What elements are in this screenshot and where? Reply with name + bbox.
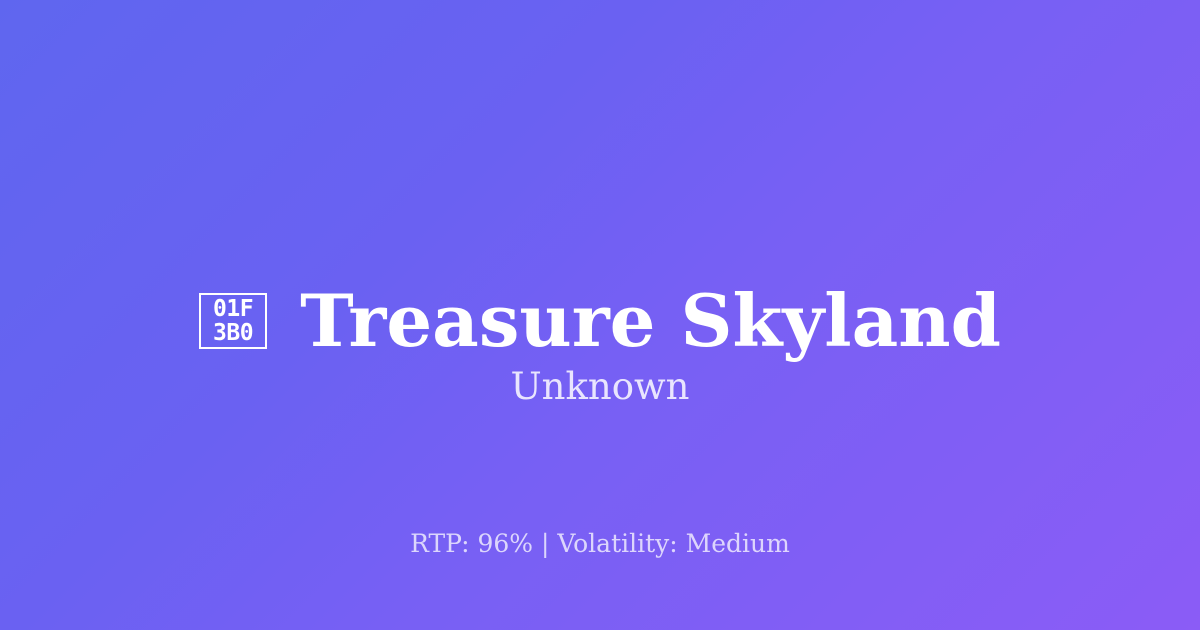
game-meta-line: RTP: 96% | Volatility: Medium (0, 528, 1200, 560)
slot-machine-icon: 01F 3B0 (199, 293, 267, 349)
slot-machine-icon-codepoint-bottom: 3B0 (213, 321, 253, 345)
game-provider: Unknown (0, 364, 1200, 410)
slot-machine-icon-codepoint-top: 01F (213, 297, 253, 321)
game-title: Treasure Skyland (300, 281, 1001, 361)
game-og-card: 01F 3B0 Treasure Skyland Unknown RTP: 96… (0, 0, 1200, 630)
